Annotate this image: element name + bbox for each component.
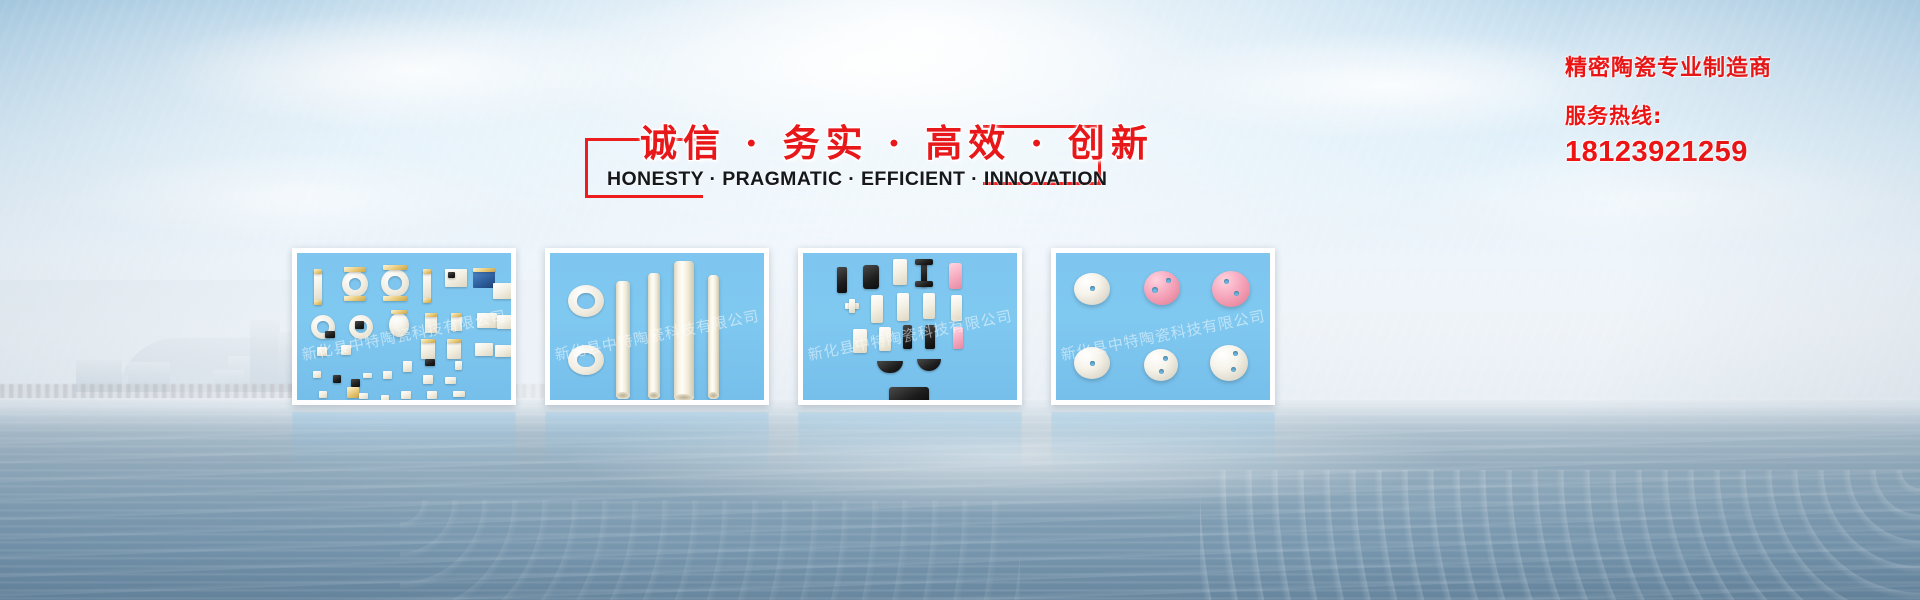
water-wake — [1200, 470, 1920, 600]
panel-reflection — [545, 412, 769, 474]
product-panel-ceramic-discs[interactable]: 新化县中特陶瓷科技有限公司 — [1051, 248, 1275, 405]
slogan-block: 诚信 · 务实 · 高效 · 创新 HONESTY · PRAGMATIC · … — [585, 113, 1105, 203]
product-gallery: 新化县中特陶瓷科技有限公司 新化县中特陶瓷科技有限公司 — [292, 248, 1292, 408]
product-image-smd-components: 新化县中特陶瓷科技有限公司 — [297, 253, 511, 400]
water-wake — [400, 500, 1020, 600]
panel-reflection — [1051, 412, 1275, 474]
panel-reflection — [798, 412, 1022, 474]
contact-block: 精密陶瓷专业制造商 服务热线: 18123921259 — [1565, 50, 1905, 169]
product-image-structural-parts: 新化县中特陶瓷科技有限公司 — [803, 253, 1017, 400]
product-panel-structural-parts[interactable]: 新化县中特陶瓷科技有限公司 — [798, 248, 1022, 405]
panel-reflection — [292, 412, 516, 474]
slogan-chinese: 诚信 · 务实 · 高效 · 创新 — [640, 113, 1060, 167]
product-image-ceramic-discs: 新化县中特陶瓷科技有限公司 — [1056, 253, 1270, 400]
product-panel-ceramic-tubes[interactable]: 新化县中特陶瓷科技有限公司 — [545, 248, 769, 405]
company-tagline: 精密陶瓷专业制造商 — [1565, 50, 1905, 82]
hotline-label: 服务热线: — [1565, 100, 1905, 130]
product-panel-smd-components[interactable]: 新化县中特陶瓷科技有限公司 — [292, 248, 516, 405]
promo-banner: 诚信 · 务实 · 高效 · 创新 HONESTY · PRAGMATIC · … — [0, 0, 1920, 600]
hotline-number[interactable]: 18123921259 — [1565, 136, 1905, 169]
product-image-ceramic-tubes: 新化县中特陶瓷科技有限公司 — [550, 253, 764, 400]
slogan-english: HONESTY · PRAGMATIC · EFFICIENT · INNOVA… — [607, 168, 1097, 191]
